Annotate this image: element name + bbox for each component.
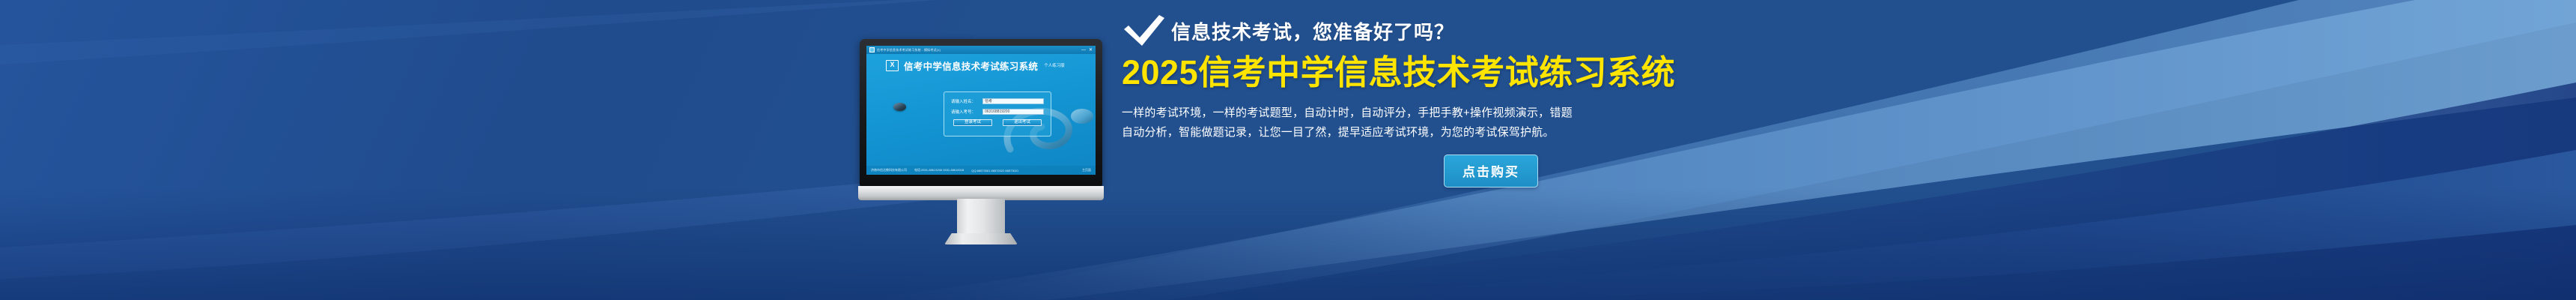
login-panel-buttons: 登录考试 退出考试 xyxy=(951,119,1044,126)
buy-now-button[interactable]: 点击购买 xyxy=(1444,154,1538,187)
tagline-row: 信息技术考试，您准备好了吗？ xyxy=(1122,13,1781,48)
app-window-icon xyxy=(869,47,875,52)
bottom-vignette xyxy=(0,187,2576,300)
name-input[interactable]: 信考 xyxy=(982,98,1044,104)
monitor-stand xyxy=(957,199,1005,233)
footer-qq: QQ:88573061 88572022 88573021 xyxy=(971,169,1018,172)
description-line-2: 自动分析，智能做题记录，让您一目了然，提早适应考试环境，为您的考试保驾护航。 xyxy=(1122,123,1781,142)
login-panel: 请输入姓名： 信考 请输入考号： 063168819200 登录考试 退出考试 xyxy=(944,91,1051,136)
monitor-screen: 信考中学信息技术考试练习系统 - 模拟考试[1] — ✕ 信考中学信息技术考试练… xyxy=(866,46,1096,175)
footer-version: 主页面 xyxy=(1082,168,1091,172)
name-field-label: 请输入姓名： xyxy=(951,98,982,104)
promo-banner: 信考中学信息技术考试练习系统 - 模拟考试[1] — ✕ 信考中学信息技术考试练… xyxy=(0,0,2576,300)
exit-exam-button[interactable]: 退出考试 xyxy=(1003,119,1042,126)
app-titlebar: 信考中学信息技术考试练习系统 - 模拟考试[1] — ✕ xyxy=(866,46,1096,54)
cta-wrapper: 点击购买 xyxy=(1444,154,1781,187)
exam-number-field-row: 请输入考号： 063168819200 xyxy=(951,109,1044,115)
minimize-icon[interactable]: — xyxy=(1081,48,1086,52)
app-edition-label: 个人练习版 xyxy=(1044,62,1065,68)
banner-copy: 信息技术考试，您准备好了吗？ 2025信考中学信息技术考试练习系统 一样的考试环… xyxy=(1122,13,1781,187)
app-titlebar-text: 信考中学信息技术考试练习系统 - 模拟考试[1] xyxy=(877,48,941,52)
screen-dot-decoration xyxy=(893,103,906,111)
exam-number-field-label: 请输入考号： xyxy=(951,109,982,115)
headline-text: 2025信考中学信息技术考试练习系统 xyxy=(1122,54,1781,91)
window-controls: — ✕ xyxy=(1081,48,1093,52)
check-icon xyxy=(1122,15,1167,46)
login-exam-button[interactable]: 登录考试 xyxy=(953,119,992,126)
monitor-bezel: 信考中学信息技术考试练习系统 - 模拟考试[1] — ✕ 信考中学信息技术考试练… xyxy=(860,39,1102,186)
app-footer: 济南市信达教科技有限公司 电话:0531-88613206 0531-88618… xyxy=(866,166,1096,175)
description-block: 一样的考试环境，一样的考试题型，自动计时，自动评分，手把手教+操作视频演示，错题… xyxy=(1122,103,1781,142)
monitor-mockup: 信考中学信息技术考试练习系统 - 模拟考试[1] — ✕ 信考中学信息技术考试练… xyxy=(860,39,1102,256)
footer-company: 济南市信达教科技有限公司 xyxy=(871,168,907,172)
exam-number-input[interactable]: 063168819200 xyxy=(982,109,1044,115)
close-icon[interactable]: ✕ xyxy=(1089,48,1093,52)
name-field-row: 请输入姓名： 信考 xyxy=(951,98,1044,104)
app-title: 信考中学信息技术考试练习系统 xyxy=(904,58,1038,73)
description-line-1: 一样的考试环境，一样的考试题型，自动计时，自动评分，手把手教+操作视频演示，错题 xyxy=(1122,103,1781,123)
footer-phone: 电话:0531-88613206 0531-88618318 xyxy=(914,168,964,172)
tagline-text: 信息技术考试，您准备好了吗？ xyxy=(1171,17,1454,45)
app-header: 信考中学信息技术考试练习系统 个人练习版 xyxy=(866,54,1096,76)
x-logo-icon xyxy=(886,60,899,71)
